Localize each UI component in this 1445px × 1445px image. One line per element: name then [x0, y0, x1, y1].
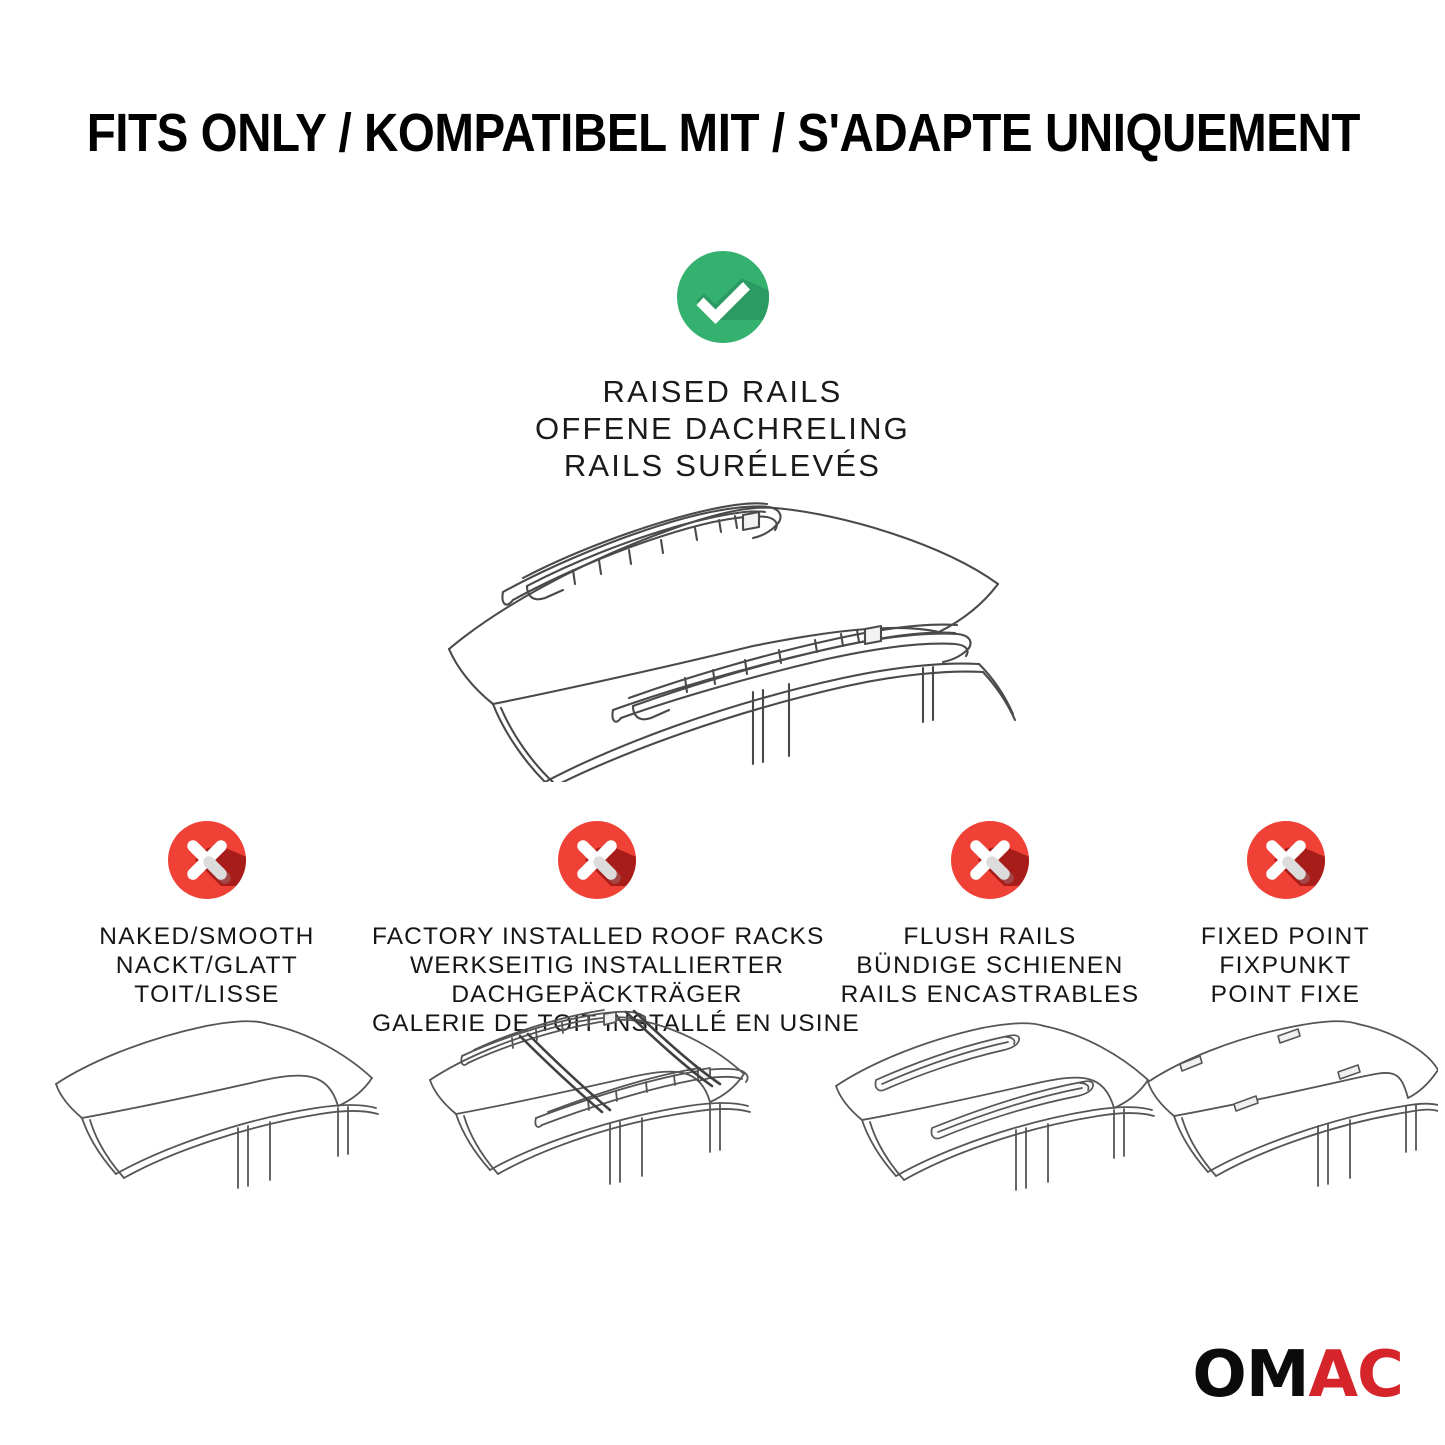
compatible-label-fr: RAILS SURÉLEVÉS — [0, 447, 1445, 484]
car-roof-flush-rails-illustration — [820, 1016, 1160, 1246]
incompatible-labels-flush-rails: FLUSH RAILS BÜNDIGE SCHIENEN RAILS ENCAS… — [820, 922, 1160, 1009]
cross-circle-icon — [555, 818, 639, 902]
incompatible-section: NAKED/SMOOTH NACKT/GLATT TOIT/LISSE — [0, 818, 1445, 1248]
compatible-section: RAISED RAILS OFFENE DACHRELING RAILS SUR… — [0, 248, 1445, 484]
incompatible-column-factory-rack: FACTORY INSTALLED ROOF RACKS WERKSEITIG … — [372, 818, 822, 1038]
cross-circle-icon — [1244, 818, 1328, 902]
cross-circle-icon — [165, 818, 249, 902]
label-de: NACKT/GLATT — [42, 951, 372, 980]
check-circle-icon — [674, 248, 772, 346]
label-fr: RAILS ENCASTRABLES — [820, 980, 1160, 1009]
car-roof-naked-illustration — [42, 1016, 372, 1246]
logo-text-om: OM — [1192, 1338, 1308, 1412]
car-roof-factory-rack-illustration — [372, 1008, 822, 1248]
label-de: BÜNDIGE SCHIENEN — [820, 951, 1160, 980]
incompatible-labels-naked: NAKED/SMOOTH NACKT/GLATT TOIT/LISSE — [42, 922, 372, 1009]
incompatible-column-naked: NAKED/SMOOTH NACKT/GLATT TOIT/LISSE — [42, 818, 372, 1009]
label-de: FIXPUNKT — [1158, 951, 1413, 980]
page-title: FITS ONLY / KOMPATIBEL MIT / S'ADAPTE UN… — [87, 104, 1359, 162]
label-en: NAKED/SMOOTH — [42, 922, 372, 951]
incompatible-column-flush-rails: FLUSH RAILS BÜNDIGE SCHIENEN RAILS ENCAS… — [820, 818, 1160, 1009]
label-fr: POINT FIXE — [1158, 980, 1413, 1009]
label-en: FIXED POINT — [1158, 922, 1413, 951]
label-fr: TOIT/LISSE — [42, 980, 372, 1009]
omac-logo: OMAC — [1192, 1343, 1403, 1407]
compatible-label-en: RAISED RAILS — [0, 373, 1445, 410]
incompatible-labels-fixed-point: FIXED POINT FIXPUNKT POINT FIXE — [1158, 922, 1413, 1009]
label-de-1: WERKSEITIG INSTALLIERTER — [372, 951, 822, 980]
label-de-2: DACHGEPÄCKTRÄGER — [372, 980, 822, 1009]
label-en: FACTORY INSTALLED ROOF RACKS — [372, 922, 822, 951]
car-roof-fixed-point-illustration — [1138, 1016, 1438, 1246]
label-en: FLUSH RAILS — [820, 922, 1160, 951]
logo-text-ac: AC — [1309, 1338, 1404, 1412]
compatible-labels: RAISED RAILS OFFENE DACHRELING RAILS SUR… — [0, 373, 1445, 484]
cross-circle-icon — [948, 818, 1032, 902]
incompatible-column-fixed-point: FIXED POINT FIXPUNKT POINT FIXE — [1158, 818, 1413, 1009]
car-roof-raised-rails-illustration — [0, 492, 1445, 787]
compatible-label-de: OFFENE DACHRELING — [0, 410, 1445, 447]
